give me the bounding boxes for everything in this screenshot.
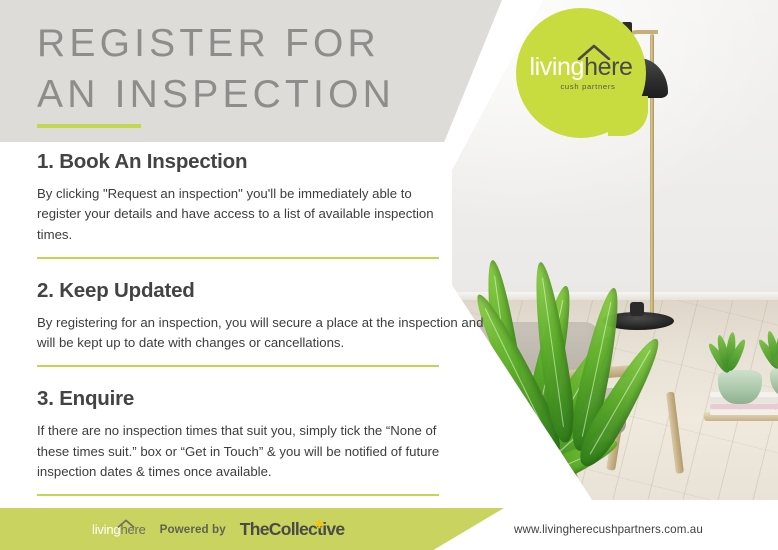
step-divider-2 bbox=[37, 365, 439, 367]
poster-page: REGISTER FOR AN INSPECTION livinghere cu… bbox=[0, 0, 778, 550]
step-1-title: 1. Book An Inspection bbox=[37, 150, 460, 175]
step-3-body: If there are no inspection times that su… bbox=[37, 421, 457, 482]
step-1-body: By clicking "Request an inspection" you'… bbox=[37, 184, 435, 245]
step-2: 2. Keep Updated By registering for an in… bbox=[0, 279, 460, 354]
brand-logo[interactable]: livinghere cush partners bbox=[516, 8, 646, 138]
powered-by-label: Powered by bbox=[160, 523, 226, 536]
steps-list: 1. Book An Inspection By clicking "Reque… bbox=[0, 150, 460, 496]
chair-leg-front-left bbox=[466, 399, 489, 471]
logo-tagline: cush partners bbox=[560, 82, 615, 91]
logo-wordmark: livinghere bbox=[529, 55, 632, 80]
house-roof-icon-footer bbox=[117, 517, 135, 526]
step-1: 1. Book An Inspection By clicking "Reque… bbox=[0, 150, 460, 245]
logo-living-text: living bbox=[529, 53, 584, 81]
partner-wordmark-text: TheCollective bbox=[240, 519, 345, 539]
footer-logo[interactable]: livinghere bbox=[92, 523, 146, 536]
house-roof-icon bbox=[577, 44, 611, 60]
step-divider-1 bbox=[37, 257, 439, 259]
step-divider-3 bbox=[37, 494, 439, 496]
succulent-left bbox=[724, 336, 758, 372]
page-title: REGISTER FOR AN INSPECTION bbox=[37, 18, 457, 121]
step-3: 3. Enquire If there are no inspection ti… bbox=[0, 387, 460, 482]
potted-plant-leaves-secondary bbox=[504, 336, 614, 486]
step-2-title: 2. Keep Updated bbox=[37, 279, 460, 304]
step-3-title: 3. Enquire bbox=[37, 387, 460, 412]
partner-wordmark[interactable]: TheCollective ✱ bbox=[240, 519, 345, 540]
plant-pot-left bbox=[718, 370, 762, 404]
website-url[interactable]: www.livingherecushpartners.com.au bbox=[514, 508, 703, 550]
title-underline bbox=[37, 124, 141, 128]
starburst-icon: ✱ bbox=[315, 521, 324, 530]
footer-content: livinghere Powered by TheCollective ✱ bbox=[0, 508, 504, 550]
step-2-body: By registering for an inspection, you wi… bbox=[37, 313, 492, 354]
